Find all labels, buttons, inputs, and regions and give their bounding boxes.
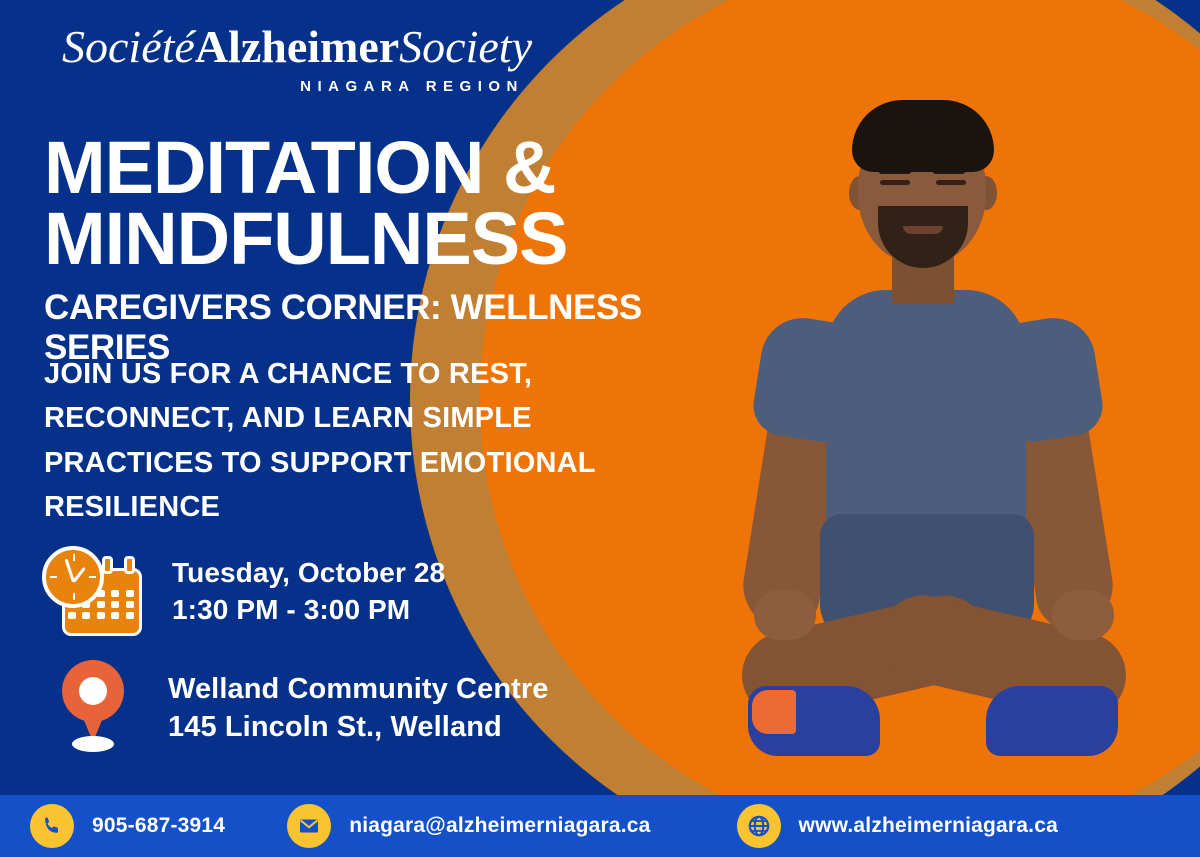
- right-closed-eye: [936, 180, 966, 185]
- meditating-person-photo: [700, 94, 1170, 794]
- headline-block: MEDITATION & MINDFULNESS CAREGIVERS CORN…: [44, 132, 744, 368]
- event-description: JOIN US FOR A CHANCE TO REST, RECONNECT,…: [44, 352, 704, 529]
- phone-number: 905-687-3914: [92, 814, 225, 838]
- event-venue: Welland Community Centre: [168, 670, 549, 708]
- mouth: [903, 226, 943, 234]
- contact-email[interactable]: niagara@alzheimerniagara.ca: [287, 804, 650, 848]
- pin-shadow: [72, 736, 114, 752]
- right-hand: [1052, 590, 1114, 640]
- alzheimer-society-logo: SociétéAlzheimerSociety NIAGARA REGION: [62, 22, 622, 95]
- logo-society: Society: [399, 21, 532, 72]
- event-date: Tuesday, October 28: [172, 555, 445, 592]
- envelope-icon: [287, 804, 331, 848]
- phone-icon: [30, 804, 74, 848]
- torso: [826, 290, 1026, 540]
- event-poster: SociétéAlzheimerSociety NIAGARA REGION M…: [0, 0, 1200, 857]
- pin-center-dot: [79, 677, 107, 705]
- contact-footer-bar: 905-687-3914 niagara@alzheimerniagara.ca: [0, 795, 1200, 857]
- page-title-line2: MINDFULNESS: [44, 203, 744, 274]
- event-time: 1:30 PM - 3:00 PM: [172, 592, 445, 629]
- contact-website[interactable]: www.alzheimerniagara.ca: [737, 804, 1058, 848]
- calendar-clock-icon: [40, 546, 144, 638]
- logo-wordmark: SociétéAlzheimerSociety: [62, 22, 622, 71]
- location-row: Welland Community Centre 145 Lincoln St.…: [62, 660, 549, 756]
- left-shoe-accent: [752, 690, 796, 734]
- website-url: www.alzheimerniagara.ca: [799, 814, 1058, 838]
- clock-minute-hand: [65, 559, 75, 583]
- contact-phone[interactable]: 905-687-3914: [30, 804, 225, 848]
- logo-alzheimer: Alzheimer: [195, 21, 399, 72]
- right-sleeve: [1003, 312, 1107, 444]
- logo-region: NIAGARA REGION: [62, 78, 622, 95]
- globe-icon: [737, 804, 781, 848]
- left-closed-eye: [880, 180, 910, 185]
- hair: [852, 100, 994, 172]
- date-time-row: Tuesday, October 28 1:30 PM - 3:00 PM: [40, 546, 445, 638]
- map-pin-icon: [62, 660, 124, 756]
- email-address: niagara@alzheimerniagara.ca: [349, 814, 650, 838]
- event-address: 145 Lincoln St., Welland: [168, 708, 549, 746]
- logo-societe: Société: [62, 21, 195, 72]
- location-text: Welland Community Centre 145 Lincoln St.…: [168, 670, 549, 747]
- page-title-line1: MEDITATION &: [44, 132, 744, 203]
- right-shoe: [986, 686, 1118, 756]
- left-hand: [754, 590, 816, 640]
- clock-face: [42, 546, 104, 608]
- date-time-text: Tuesday, October 28 1:30 PM - 3:00 PM: [172, 555, 445, 629]
- calendar-tab-3: [124, 556, 135, 574]
